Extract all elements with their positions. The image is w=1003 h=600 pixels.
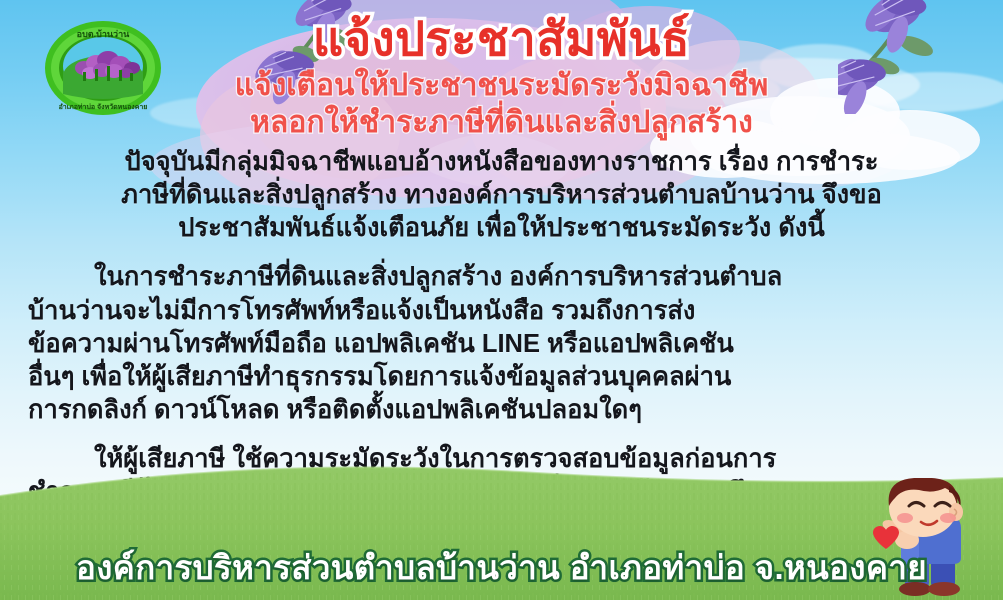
paragraph-line: ในการชำระภาษีที่ดินและสิ่งปลูกสร้าง องค์… — [28, 261, 975, 294]
paragraph-line: บ้านว่านจะไม่มีการโทรศัพท์หรือแจ้งเป็นหน… — [28, 295, 975, 328]
announcement-poster: อบต.บ้านว่าน อำเภอท่าบ่อ จังหวัดหนองคาย — [0, 0, 1003, 600]
page-title: แจ้งประชาสัมพันธ์ — [0, 14, 1003, 64]
poster-heading-block: แจ้งประชาสัมพันธ์ แจ้งเตือนให้ประชาชนระม… — [0, 14, 1003, 143]
paragraph-1: ปัจจุบันมีกลุ่มมิจฉาชีพแอบอ้างหนังสือของ… — [28, 146, 975, 245]
footer-block: องค์การบริหารส่วนตำบลบ้านว่าน อำเภอท่าบ่… — [0, 541, 1003, 594]
paragraph-line: ภาษีที่ดินและสิ่งปลูกสร้าง ทางองค์การบริ… — [28, 179, 975, 212]
organization-name: องค์การบริหารส่วนตำบลบ้านว่าน อำเภอท่าบ่… — [76, 541, 927, 594]
subtitle-line-2: หลอกให้ชำระภาษีที่ดินและสิ่งปลูกสร้าง — [0, 105, 1003, 142]
subtitle-line-1: แจ้งเตือนให้ประชาชนระมัดระวังมิจฉาชีพ — [0, 68, 1003, 105]
poster-subtitle: แจ้งเตือนให้ประชาชนระมัดระวังมิจฉาชีพ หล… — [0, 68, 1003, 142]
paragraph-line: ประชาสัมพันธ์แจ้งเตือนภัย เพื่อให้ประชาช… — [28, 212, 975, 245]
paragraph-line: อื่นๆ เพื่อให้ผู้เสียภาษีทำธุรกรรมโดยการ… — [28, 361, 975, 394]
paragraph-line: ข้อความผ่านโทรศัพท์มือถือ แอปพลิเคชัน LI… — [28, 328, 975, 361]
paragraph-line: ปัจจุบันมีกลุ่มมิจฉาชีพแอบอ้างหนังสือของ… — [28, 146, 975, 179]
paragraph-2: ในการชำระภาษีที่ดินและสิ่งปลูกสร้าง องค์… — [28, 261, 975, 427]
paragraph-line: การกดลิงก์ ดาวน์โหลด หรือติดตั้งแอปพลิเค… — [28, 394, 975, 427]
